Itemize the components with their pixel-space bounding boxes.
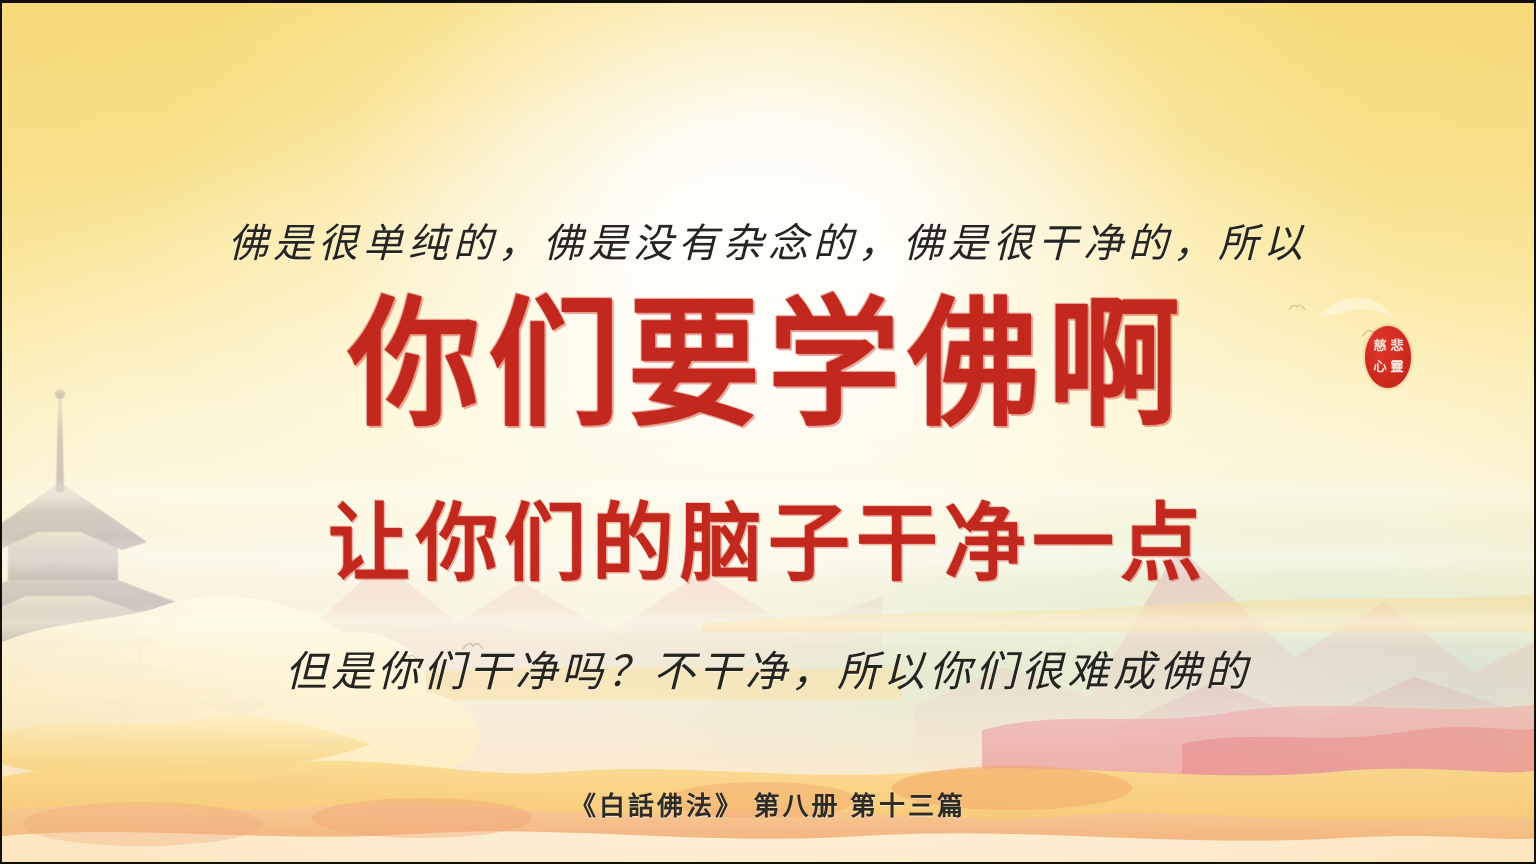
source-attribution: 《白話佛法》 第八册 第十三篇 <box>2 786 1534 823</box>
subheadline-text: 让你们的脑子干净一点 <box>2 501 1534 586</box>
quote-poster: 慈 悲 心 靈 佛是很单纯的，佛是没有杂念的，佛是很干净的，所以 你们要学佛啊 … <box>0 0 1536 864</box>
quote-intro-line: 佛是很单纯的，佛是没有杂念的，佛是很干净的，所以 <box>2 211 1534 269</box>
headline-text: 你们要学佛啊 <box>2 295 1534 435</box>
quote-closing-line: 但是你们干净吗？不干净，所以你们很难成佛的 <box>2 638 1534 699</box>
